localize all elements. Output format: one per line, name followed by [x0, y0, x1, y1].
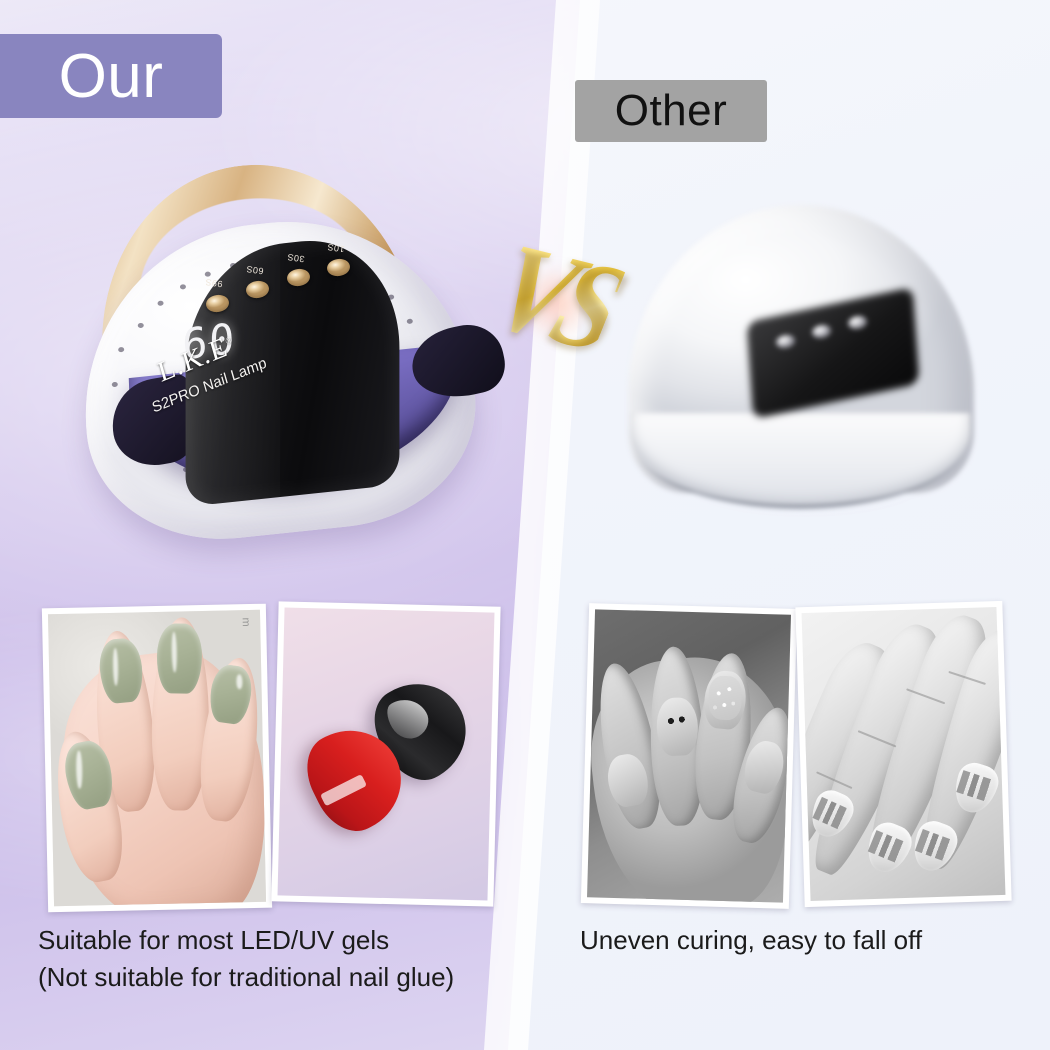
- photo-damaged-nails: [581, 603, 797, 909]
- photo-peeling-polish: [795, 601, 1011, 907]
- left-caption-line-2: (Not suitable for traditional nail glue): [38, 959, 454, 996]
- right-caption: Uneven curing, easy to fall off: [580, 922, 922, 959]
- photo-nail-swatches-content: [278, 607, 495, 900]
- our-badge: Our: [0, 34, 222, 118]
- other-nail-lamp-product-image: [600, 195, 1000, 545]
- photo-corner-mark: m: [239, 617, 251, 626]
- photo-green-manicure-content: m: [48, 610, 266, 906]
- photo-green-manicure: m: [42, 604, 272, 913]
- left-caption-line-1: Suitable for most LED/UV gels: [38, 922, 454, 959]
- photo-nail-swatches: [271, 601, 500, 906]
- our-nail-lamp-product-image: 60 99S 60S 30S 10S L.K.E® S2PRO Nail Lam…: [60, 165, 490, 575]
- photo-damaged-nails-content: [587, 609, 791, 902]
- left-caption: Suitable for most LED/UV gels (Not suita…: [38, 922, 454, 996]
- our-badge-label: Our: [59, 41, 164, 112]
- photo-peeling-polish-content: [802, 607, 1006, 901]
- comparison-infographic: Our Other: [0, 0, 1050, 1050]
- other-badge: Other: [575, 80, 767, 142]
- right-caption-line-1: Uneven curing, easy to fall off: [580, 922, 922, 959]
- other-badge-label: Other: [615, 86, 728, 136]
